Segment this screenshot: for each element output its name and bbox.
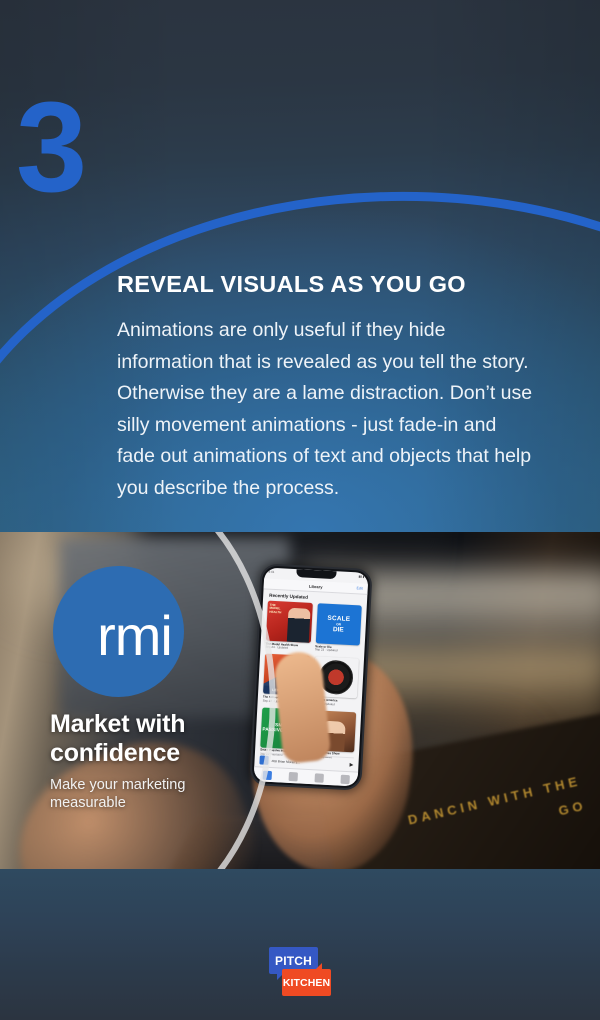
kitchen-bubble: KITCHEN bbox=[282, 969, 331, 996]
presentation-slide: 3 REVEAL VISUALS AS YOU GO Animations ar… bbox=[0, 0, 600, 1020]
caption-title: Market with confidence bbox=[50, 710, 265, 767]
copy-block: REVEAL VISUALS AS YOU GO Animations are … bbox=[117, 271, 537, 504]
podcast-artwork: SCALE OR DIE bbox=[315, 603, 362, 645]
artwork-label: DIE bbox=[333, 626, 344, 634]
play-icon[interactable]: ▶ bbox=[349, 762, 353, 768]
nav-title: Library bbox=[309, 583, 323, 589]
footer: PITCH KITCHEN bbox=[0, 869, 600, 1020]
podcast-artwork: THE MODEL HEALTH bbox=[266, 601, 313, 643]
body-paragraph: Animations are only useful if they hide … bbox=[117, 315, 537, 504]
phone-notch bbox=[296, 569, 336, 579]
photo-panel: DANCIN WITH THE GO 9:41 ▮▮ ▮ Library Edi… bbox=[0, 532, 600, 869]
tab-search-icon[interactable] bbox=[340, 774, 349, 783]
photo-caption: Market with confidence Make your marketi… bbox=[50, 710, 265, 812]
step-number: 3 bbox=[16, 84, 85, 212]
list-item-meta: Scale or Die Sep 23 · Updated bbox=[315, 645, 360, 655]
artwork-figure bbox=[286, 608, 310, 643]
status-indicators: ▮▮ ▮ bbox=[358, 574, 364, 578]
nav-edit-button[interactable]: Edit bbox=[356, 586, 362, 590]
status-time: 9:41 bbox=[268, 570, 274, 574]
list-item[interactable]: SCALE OR DIE Scale or Die Sep 23 · Updat… bbox=[315, 603, 362, 655]
phone-tab-bar bbox=[253, 766, 358, 786]
tab-browse-icon[interactable] bbox=[288, 771, 297, 780]
top-content-panel: 3 REVEAL VISUALS AS YOU GO Animations ar… bbox=[0, 0, 600, 532]
rmi-logo: rmi bbox=[53, 566, 184, 697]
pitch-kitchen-logo[interactable]: PITCH KITCHEN bbox=[269, 947, 331, 994]
section-title: Recently Updated bbox=[269, 593, 308, 600]
caption-subtitle: Make your marketing measurable bbox=[50, 776, 265, 812]
artwork-label: THE MODEL HEALTH bbox=[269, 604, 281, 615]
list-item-meta: The Model Health Show Sep 24 · Updated bbox=[265, 642, 310, 652]
rmi-logo-text: rmi bbox=[97, 608, 172, 664]
tab-library-icon[interactable] bbox=[314, 773, 323, 782]
list-item[interactable]: THE MODEL HEALTH The Model Health Show S… bbox=[265, 601, 312, 653]
page-title: REVEAL VISUALS AS YOU GO bbox=[117, 271, 537, 298]
